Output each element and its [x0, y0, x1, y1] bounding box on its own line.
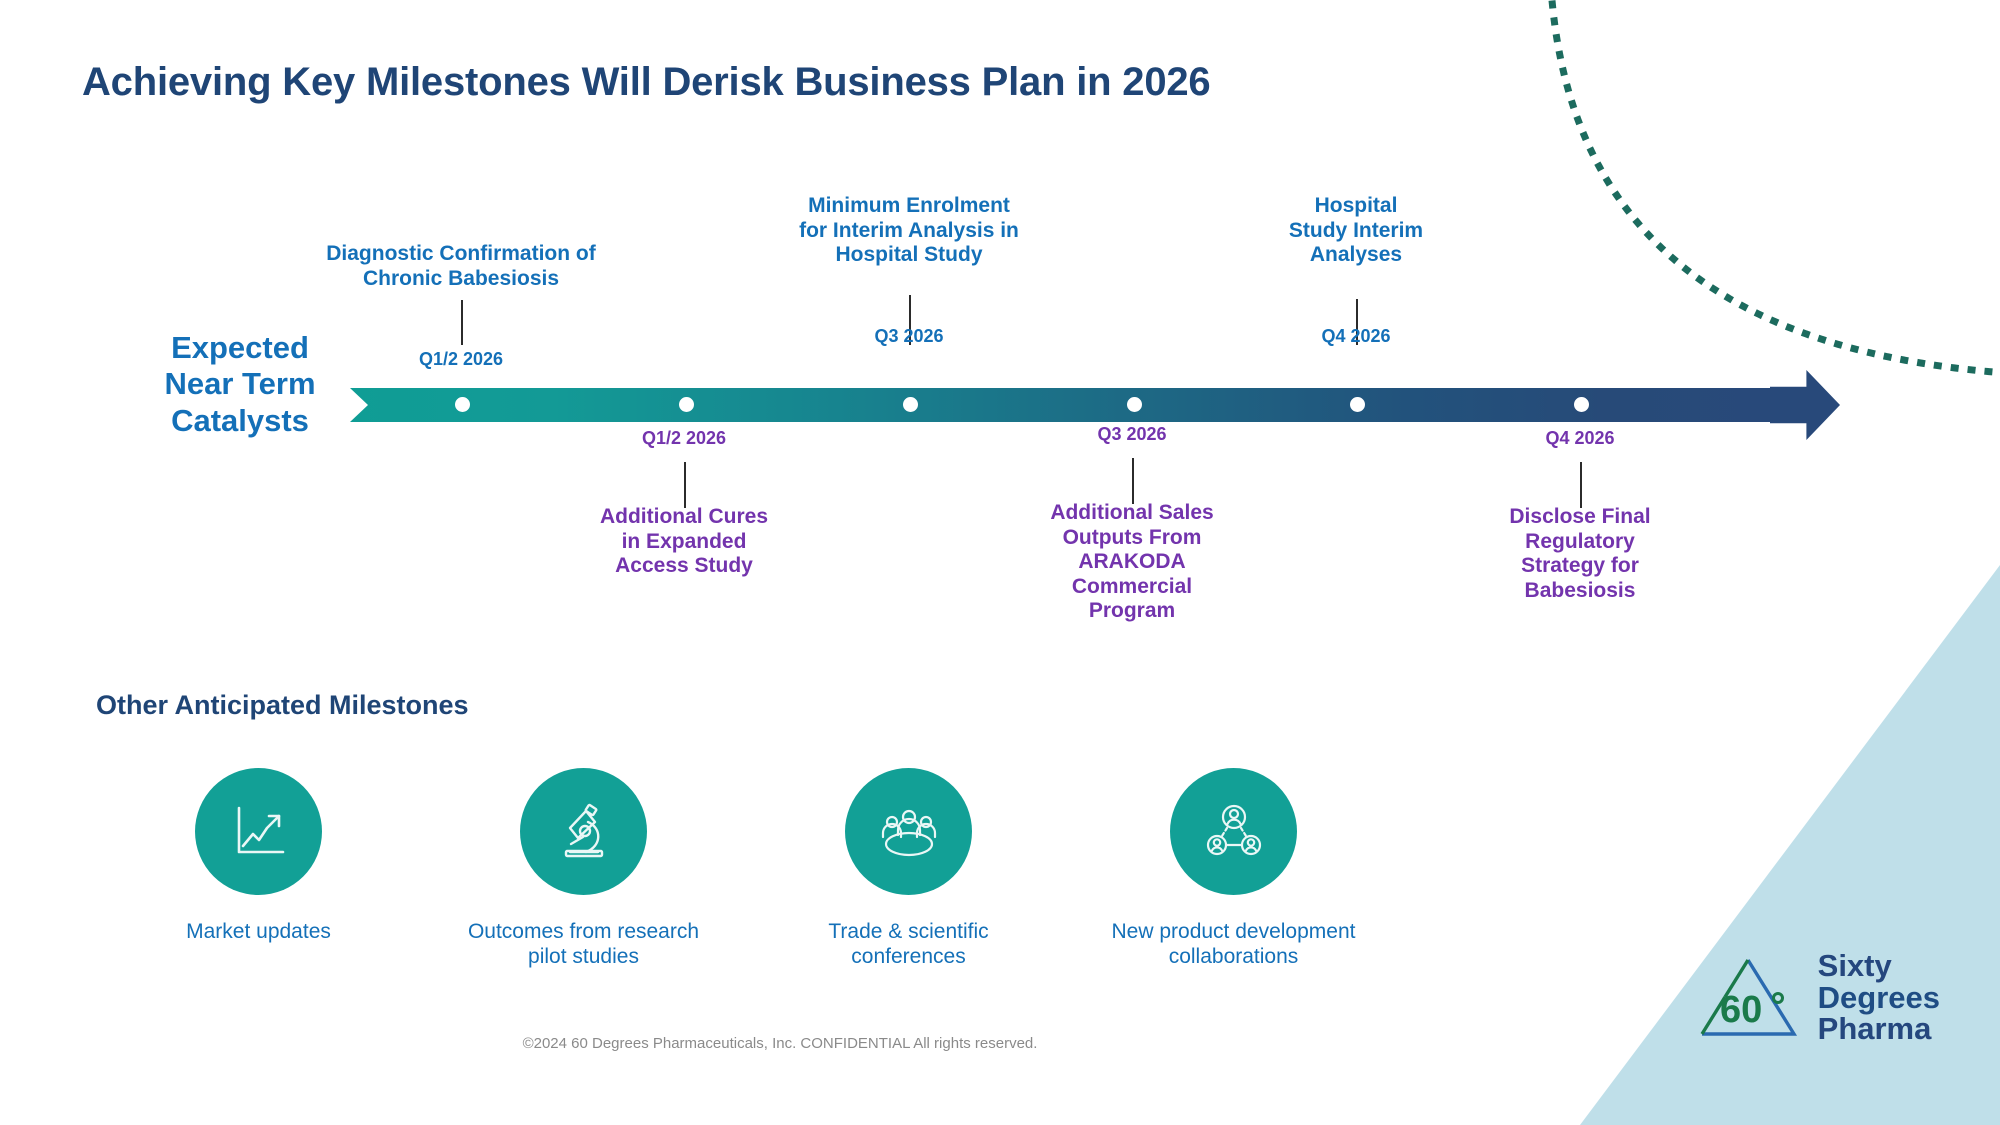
list-item[interactable]: Outcomes from researchpilot studies — [421, 768, 746, 969]
milestone-text: Diagnostic Confirmation ofChronic Babesi… — [281, 242, 641, 291]
milestone-text: Additional SalesOutputs FromARAKODAComme… — [952, 501, 1312, 624]
axis-label-line-2: Near Term — [140, 366, 340, 402]
list-item[interactable]: Trade & scientificconferences — [746, 768, 1071, 969]
timeline-dot[interactable] — [1574, 397, 1589, 412]
milestone-text: Additional Curesin ExpandedAccess Study — [504, 505, 864, 579]
list-item-caption: Outcomes from researchpilot studies — [434, 919, 734, 969]
list-item[interactable]: New product developmentcollaborations — [1071, 768, 1396, 969]
milestone-above-3[interactable]: HospitalStudy InterimAnalyses Q4 2026 — [1176, 194, 1536, 347]
milestone-below-3[interactable]: Q4 2026 Disclose FinalRegulatoryStrategy… — [1400, 428, 1760, 603]
line-chart-icon — [227, 800, 291, 864]
milestone-text: Disclose FinalRegulatoryStrategy forBabe… — [1400, 505, 1760, 603]
footer-copyright: ©2024 60 Degrees Pharmaceuticals, Inc. C… — [0, 1035, 1560, 1052]
milestone-quarter: Q4 2026 — [1176, 326, 1536, 347]
microscope-icon — [552, 800, 616, 864]
svg-text:60: 60 — [1720, 989, 1762, 1031]
milestone-above-2[interactable]: Minimum Enrolmentfor Interim Analysis in… — [729, 194, 1089, 347]
milestone-below-2[interactable]: Q3 2026 Additional SalesOutputs FromARAK… — [952, 424, 1312, 624]
milestone-above-1[interactable]: Diagnostic Confirmation ofChronic Babesi… — [281, 242, 641, 370]
list-item-caption: New product developmentcollaborations — [1084, 919, 1384, 969]
slide-canvas: Achieving Key Milestones Will Derisk Bus… — [0, 0, 2000, 1125]
timeline-dot[interactable] — [903, 397, 918, 412]
conference-people-icon — [877, 800, 941, 864]
milestone-quarter: Q1/2 2026 — [281, 349, 641, 370]
logo-line-2: Degrees — [1818, 982, 1940, 1014]
icon-circle — [845, 768, 972, 895]
axis-label-line-3: Catalysts — [140, 403, 340, 439]
list-item[interactable]: Market updates — [96, 768, 421, 969]
list-item-caption: Trade & scientificconferences — [759, 919, 1059, 969]
milestone-below-1[interactable]: Q1/2 2026 Additional Curesin ExpandedAcc… — [504, 428, 864, 579]
timeline-dot[interactable] — [1127, 397, 1142, 412]
other-milestones-list: Market updates Outcomes from researchpil… — [96, 768, 1396, 969]
timeline-arrowhead-icon — [1770, 370, 1840, 440]
logo-line-1: Sixty — [1818, 950, 1940, 982]
page-title: Achieving Key Milestones Will Derisk Bus… — [82, 60, 1210, 105]
milestone-text: Minimum Enrolmentfor Interim Analysis in… — [729, 194, 1089, 268]
logo-line-3: Pharma — [1818, 1013, 1940, 1045]
milestone-quarter: Q1/2 2026 — [504, 428, 864, 449]
icon-circle — [1170, 768, 1297, 895]
icon-circle — [195, 768, 322, 895]
timeline-dot[interactable] — [1350, 397, 1365, 412]
section-heading-other-milestones: Other Anticipated Milestones — [96, 690, 469, 721]
company-logo: 60 Sixty Degrees Pharma — [1690, 950, 1940, 1045]
milestone-quarter: Q4 2026 — [1400, 428, 1760, 449]
milestone-quarter: Q3 2026 — [952, 424, 1312, 445]
network-people-icon — [1202, 800, 1266, 864]
milestone-text: HospitalStudy InterimAnalyses — [1176, 194, 1536, 268]
logo-wordmark: Sixty Degrees Pharma — [1818, 950, 1940, 1045]
milestone-quarter: Q3 2026 — [729, 326, 1089, 347]
sixty-degrees-triangle-mark-icon: 60 — [1690, 952, 1808, 1044]
timeline-dot[interactable] — [455, 397, 470, 412]
timeline-dot[interactable] — [679, 397, 694, 412]
dotted-arc-decoration — [1520, 0, 2000, 440]
timeline-bar — [350, 388, 1780, 422]
list-item-caption: Market updates — [109, 919, 409, 944]
icon-circle — [520, 768, 647, 895]
